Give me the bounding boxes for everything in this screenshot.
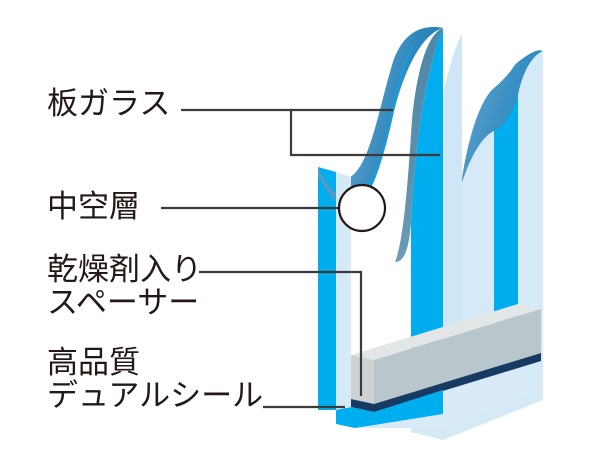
label-seal-text-line2: デュアルシール bbox=[47, 380, 263, 413]
label-spacer-text: 乾燥剤入り bbox=[47, 252, 202, 288]
diagram-canvas: 板ガラス 中空層 乾燥剤入り スペーサー 高品質 デュアルシール bbox=[0, 0, 600, 449]
label-seal-text: 高品質 bbox=[47, 345, 140, 381]
spacer-front-end-face bbox=[351, 355, 374, 404]
label-cavity: 中空層 bbox=[47, 191, 140, 224]
label-spacer-text-line2: スペーサー bbox=[47, 287, 202, 320]
cavity-circle-marker bbox=[339, 185, 385, 231]
label-spacer: 乾燥剤入り スペーサー bbox=[47, 254, 202, 320]
label-glass-text: 板ガラス bbox=[47, 86, 170, 122]
leader-glass-bracket bbox=[181, 110, 440, 155]
label-cavity-text: 中空層 bbox=[47, 189, 140, 225]
front-pane-front-face-left bbox=[318, 167, 336, 410]
label-seal: 高品質 デュアルシール bbox=[47, 347, 263, 413]
label-glass: 板ガラス bbox=[47, 88, 170, 121]
